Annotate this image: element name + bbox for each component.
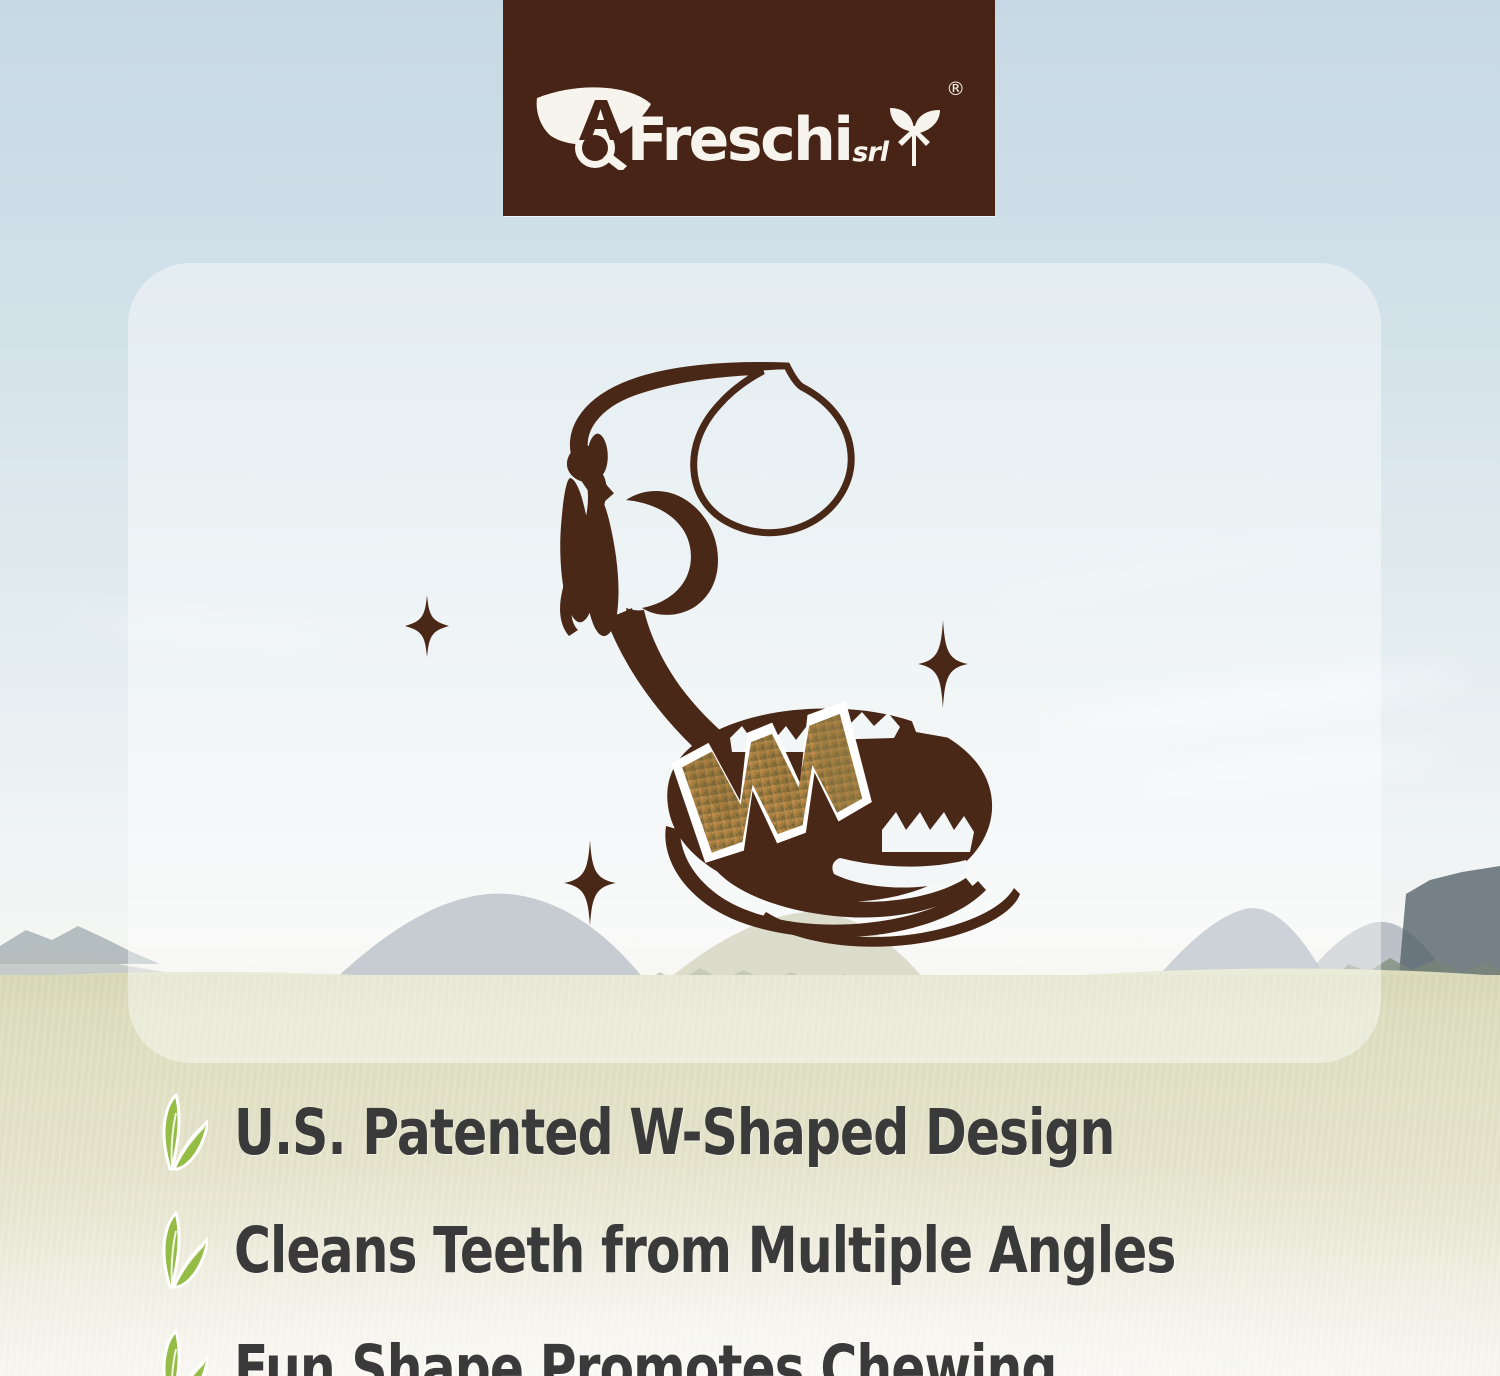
product-feature-card: Freschi srl ® xyxy=(0,0,1500,1376)
leaf-pair-icon xyxy=(146,1211,208,1289)
brand-wordmark: Freschi xyxy=(627,110,852,170)
sparkle-bottom-icon xyxy=(564,840,616,926)
feature-list: U.S. Patented W-Shaped Design Cleans Tee… xyxy=(146,1073,1466,1376)
feature-label: Fun Shape Promotes Chewing xyxy=(234,1337,1057,1376)
leaf-pair-icon xyxy=(146,1093,208,1171)
list-item: Fun Shape Promotes Chewing xyxy=(146,1309,1466,1376)
registered-trademark-icon: ® xyxy=(946,80,965,99)
list-item: U.S. Patented W-Shaped Design xyxy=(146,1073,1466,1191)
brand-suffix: srl xyxy=(852,139,888,166)
feature-label: Cleans Teeth from Multiple Angles xyxy=(234,1219,1175,1282)
feature-label: U.S. Patented W-Shaped Design xyxy=(234,1101,1114,1164)
sprout-icon xyxy=(886,92,942,168)
list-item: Cleans Teeth from Multiple Angles xyxy=(146,1191,1466,1309)
brand-logo-bar: Freschi srl ® xyxy=(503,0,995,216)
leaf-pair-icon xyxy=(146,1329,208,1376)
sparkle-left-icon xyxy=(405,595,449,657)
sparkle-right-icon xyxy=(918,620,968,708)
brand-lockup: Freschi srl ® xyxy=(533,78,965,170)
